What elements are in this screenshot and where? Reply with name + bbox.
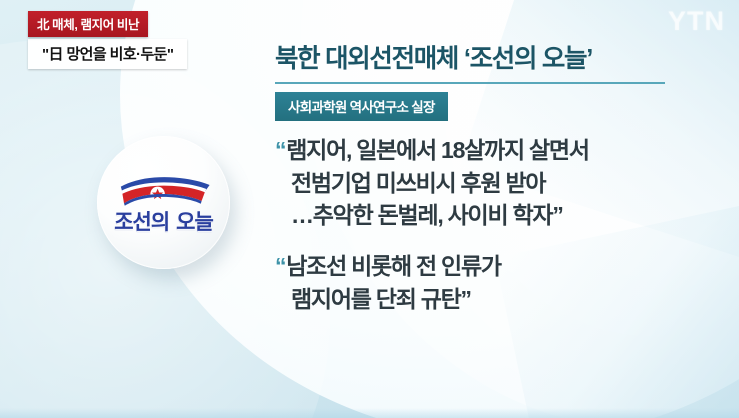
quote-block-1: “램지어, 일본에서 18살까지 살면서 전범기업 미쓰비시 후원 받아 …추악… xyxy=(275,134,727,232)
headline-divider xyxy=(275,82,665,84)
logo-text-part2: 오늘 xyxy=(176,211,213,234)
background-bottom-band xyxy=(0,408,739,418)
quote-line: “램지어, 일본에서 18살까지 살면서 xyxy=(275,134,727,167)
open-quote-mark: “ xyxy=(275,253,286,279)
corner-banner: 北 매체, 램지어 비난 "日 망언을 비호·두둔" xyxy=(28,11,187,69)
logo-text: 조선의오늘 xyxy=(114,206,213,236)
logo-text-part1: 조선의 xyxy=(114,211,169,234)
broadcaster-watermark: YTN xyxy=(668,6,725,37)
broadcast-graphic-screen: YTN 北 매체, 램지어 비난 "日 망언을 비호·두둔" 조선의오늘 북한 … xyxy=(0,0,739,418)
quote-line: “남조선 비롯해 전 인류가 xyxy=(275,250,727,283)
quote-line-text: 남조선 비롯해 전 인류가 xyxy=(286,253,501,279)
quote-line-text: 램지어, 일본에서 18살까지 살면서 xyxy=(286,137,588,163)
corner-banner-summary: "日 망언을 비호·두둔" xyxy=(28,39,187,69)
page-title: 북한 대외선전매체 ‘조선의 오늘’ xyxy=(275,44,727,76)
quote-line: …추악한 돈벌레, 사이비 학자” xyxy=(275,199,727,232)
quote-block-2: “남조선 비롯해 전 인류가 램지어를 단죄 규탄” xyxy=(275,250,727,315)
chosun-today-logo-badge: 조선의오늘 xyxy=(97,136,230,269)
north-korea-flag-icon xyxy=(116,169,212,209)
content-panel: 북한 대외선전매체 ‘조선의 오늘’ 사회과학원 역사연구소 실장 “램지어, … xyxy=(275,44,727,315)
quote-line: 램지어를 단죄 규탄” xyxy=(275,283,727,316)
source-subtitle-badge: 사회과학원 역사연구소 실장 xyxy=(275,92,448,121)
quote-line: 전범기업 미쓰비시 후원 받아 xyxy=(275,167,727,200)
logo-inner: 조선의오늘 xyxy=(97,136,230,269)
open-quote-mark: “ xyxy=(275,137,286,163)
corner-banner-category: 北 매체, 램지어 비난 xyxy=(28,11,148,37)
